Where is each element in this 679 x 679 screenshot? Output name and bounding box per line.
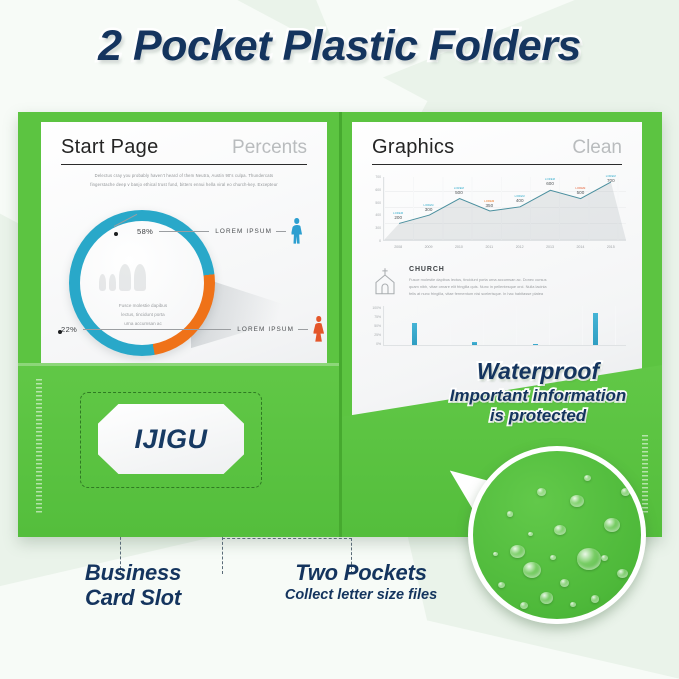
left-page-title: Start Page <box>61 136 159 159</box>
line-chart-tick: 700 <box>368 175 381 179</box>
line-chart-point-label: LOREM300 <box>423 204 433 212</box>
right-page-subtitle: Clean <box>572 137 622 159</box>
bar-chart: 100%75%50%25%0% <box>368 306 626 354</box>
line-chart-point-label: LOREM500 <box>454 187 464 195</box>
line-chart-point-label: LOREM400 <box>515 195 525 203</box>
bar-chart-tick: 25% <box>368 333 381 337</box>
line-chart-tick: 2013 <box>535 245 565 249</box>
waterproof-subtitle-line2: is protected <box>418 406 658 426</box>
caption-subtitle: Collect letter size files <box>232 587 490 603</box>
left-page-paragraph-line1: Delectus cray you probably haven't heard… <box>61 172 307 180</box>
line-chart: 7006005004003000 LOREM200LOREM300LOREM50… <box>368 175 626 257</box>
business-card-brand: IJIGU <box>134 424 207 455</box>
line-chart-point-label: LOREM200 <box>393 212 403 220</box>
page-title: 2 Pocket Plastic Folders <box>0 22 679 71</box>
caption-title-line1: Business <box>38 560 228 585</box>
left-page-subtitle: Percents <box>232 137 307 159</box>
church-icon <box>370 266 400 296</box>
bar-chart-tick: 0% <box>368 342 381 346</box>
donut-callout-label: LOREM IPSUM <box>215 228 272 235</box>
business-card: IJIGU <box>98 404 244 474</box>
donut-callout-percent: 22% <box>61 325 77 334</box>
leader-line <box>83 329 231 330</box>
line-chart-point-label: LOREM350 <box>484 200 494 208</box>
bar-chart-y-axis: 100%75%50%25%0% <box>368 306 381 346</box>
water-droplet <box>507 511 513 516</box>
line-chart-tick: 0 <box>368 239 381 243</box>
leader-line <box>159 231 209 232</box>
water-droplet <box>498 582 505 588</box>
waterproof-subtitle-line1: Important information <box>418 386 658 406</box>
water-droplet <box>601 555 608 561</box>
church-heading: CHURCH <box>409 266 547 273</box>
bar-chart-tick: 75% <box>368 315 381 319</box>
caption-title-line2: Card Slot <box>38 585 228 610</box>
left-page-header: Start Page Percents <box>41 122 327 159</box>
water-droplet <box>560 579 569 587</box>
church-body-line3: felis at nunc fringilla, vitae fermentum… <box>409 290 547 297</box>
donut-callout-58: 58% LOREM IPSUM <box>137 218 303 244</box>
bar-chart-tick: 50% <box>368 324 381 328</box>
donut-callout-percent: 58% <box>137 227 153 236</box>
waterproof-title: Waterproof <box>418 358 658 385</box>
water-droplet <box>523 562 541 578</box>
water-droplet <box>540 592 553 603</box>
water-droplet <box>528 532 533 536</box>
water-droplet <box>577 548 601 569</box>
line-chart-point-label: LOREM600 <box>545 178 555 186</box>
line-chart-point-label: LOREM700 <box>606 175 616 183</box>
caption-business-card-slot: Business Card Slot <box>38 560 228 610</box>
family-watermark-icon <box>99 264 146 291</box>
line-chart-x-axis: 20082009201020112012201320142015 <box>383 245 626 249</box>
pocket-ruler-texture <box>36 379 42 515</box>
right-page-divider <box>372 164 622 165</box>
female-person-icon <box>312 316 325 342</box>
line-chart-tick: 300 <box>368 226 381 230</box>
church-body-line2: quam nibh, vitae ornare elit fringilla q… <box>409 283 547 290</box>
line-chart-tick: 2015 <box>596 245 626 249</box>
left-page-divider <box>61 164 307 165</box>
bar-chart-bar <box>472 342 477 345</box>
water-droplet <box>510 545 525 558</box>
line-chart-tick: 2011 <box>474 245 504 249</box>
leader-line <box>276 231 286 232</box>
line-chart-tick: 600 <box>368 188 381 192</box>
water-droplet <box>537 488 546 496</box>
water-droplet <box>554 525 566 536</box>
line-chart-tick: 2008 <box>383 245 413 249</box>
waterproof-callout: Waterproof Important information is prot… <box>418 358 658 425</box>
line-chart-y-axis: 7006005004003000 <box>368 175 381 243</box>
church-body-line1: Fusce molestie dapibus lectus, tincidunt… <box>409 276 547 283</box>
line-chart-tick: 2012 <box>505 245 535 249</box>
line-chart-tick: 500 <box>368 201 381 205</box>
folder-spine <box>339 112 342 537</box>
water-droplet <box>520 602 528 609</box>
donut-callout-label: LOREM IPSUM <box>237 326 294 333</box>
leader-line <box>298 329 308 330</box>
line-chart-tick: 400 <box>368 213 381 217</box>
water-droplet <box>591 595 599 602</box>
donut-callout-22: 22% LOREM IPSUM <box>61 316 325 342</box>
church-section: CHURCH Fusce molestie dapibus lectus, ti… <box>370 266 624 298</box>
water-droplet <box>604 518 620 532</box>
water-droplet <box>617 569 628 579</box>
line-chart-point-label: LOREM500 <box>575 187 585 195</box>
line-chart-data-labels: LOREM200LOREM300LOREM500LOREM350LOREM400… <box>383 175 626 239</box>
product-image-canvas: 2 Pocket Plastic Folders Start Page Perc… <box>0 0 679 679</box>
right-page-header: Graphics Clean <box>352 122 642 159</box>
bar-chart-plot <box>383 306 626 346</box>
waterproof-zoom-bubble <box>468 446 646 624</box>
bar-chart-bar <box>533 344 538 345</box>
water-droplet <box>584 475 591 481</box>
line-chart-tick: 2009 <box>413 245 443 249</box>
male-person-icon <box>290 218 303 244</box>
right-page-title: Graphics <box>372 136 454 159</box>
water-droplet <box>493 552 498 556</box>
bar-chart-bar <box>593 313 598 345</box>
water-droplets-closeup <box>468 446 646 624</box>
bar-chart-bar <box>412 323 417 345</box>
leader-line-pocket-horizontal <box>222 538 352 539</box>
line-chart-tick: 2014 <box>565 245 595 249</box>
bar-chart-tick: 100% <box>368 306 381 310</box>
water-droplet <box>621 488 630 496</box>
water-droplet <box>550 555 556 560</box>
line-chart-tick: 2010 <box>444 245 474 249</box>
caption-title-line1: Two Pockets <box>232 560 490 585</box>
left-page-paragraph-line2: fingerstache deep v banjo ethical trust … <box>61 181 307 189</box>
caption-two-pockets: Two Pockets Collect letter size files <box>232 560 490 603</box>
water-droplet <box>570 602 576 607</box>
church-text: CHURCH Fusce molestie dapibus lectus, ti… <box>409 266 547 298</box>
water-droplet <box>570 495 584 507</box>
